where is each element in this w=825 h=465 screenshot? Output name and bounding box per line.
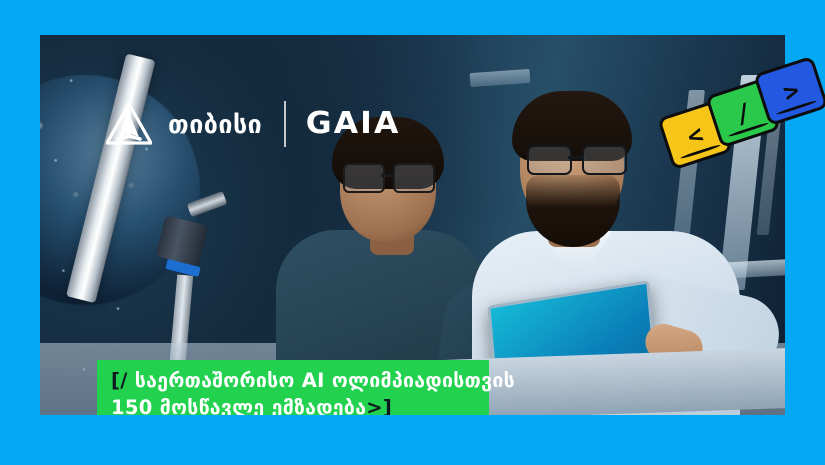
greater-than-glyph: > bbox=[780, 77, 802, 105]
mentor-glasses-icon bbox=[527, 145, 627, 171]
student-glasses-icon bbox=[343, 163, 435, 189]
headline-line-2-text: 150 მოსწავლე ემზადება bbox=[111, 396, 366, 416]
brand-divider bbox=[284, 101, 286, 147]
headline-line-1-text: საერთაშორისო AI ოლიმპიადისთვის bbox=[135, 369, 515, 392]
slash-glyph: / bbox=[732, 99, 754, 127]
page-background: თიბისი GAIA [/ საერთაშორისო AI ოლიმპიადი… bbox=[0, 0, 825, 465]
gaia-wordmark: GAIA bbox=[306, 109, 401, 139]
headline-close-bracket: >] bbox=[366, 396, 392, 416]
tbc-triangle-logo-icon bbox=[106, 103, 152, 145]
headline-open-bracket: [/ bbox=[111, 369, 135, 392]
headline-line-1: [/ საერთაშორისო AI ოლიმპიადისთვის bbox=[111, 367, 475, 394]
headline-line-2: 150 მოსწავლე ემზადება>] bbox=[111, 394, 475, 416]
code-keys-graphic: < / > bbox=[658, 58, 800, 170]
brand-lockup: თიბისი GAIA bbox=[106, 101, 399, 147]
headline-banner: [/ საერთაშორისო AI ოლიმპიადისთვის 150 მო… bbox=[97, 360, 489, 415]
tbc-wordmark: თიბისი bbox=[168, 112, 262, 137]
less-than-glyph: < bbox=[684, 121, 706, 149]
